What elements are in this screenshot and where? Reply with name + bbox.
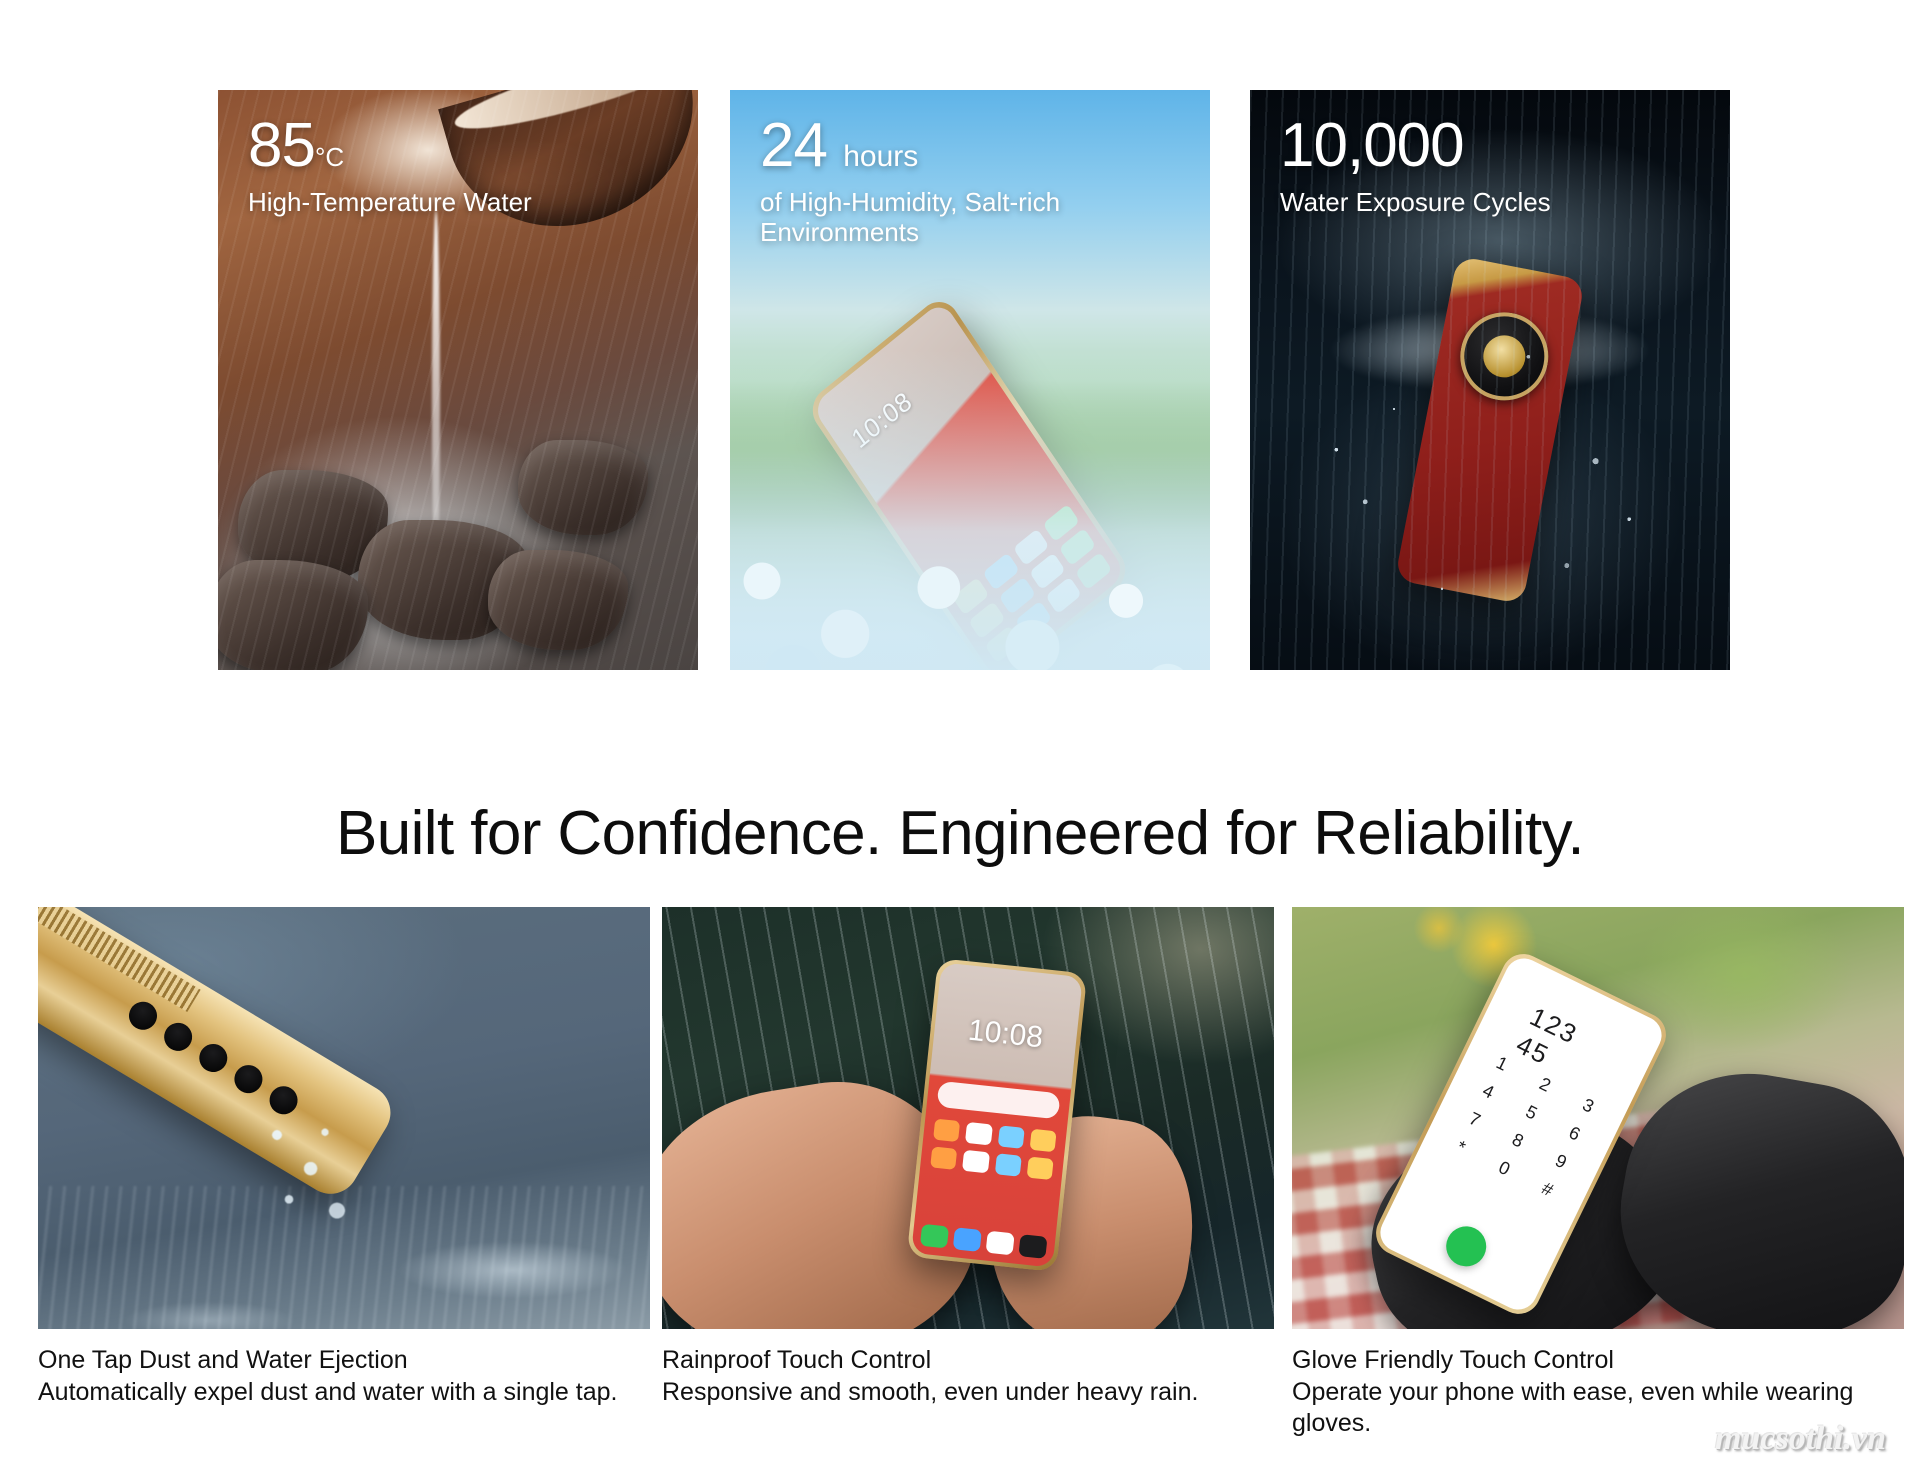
speaker-hole [124,997,162,1035]
feature-image [38,907,650,1329]
stat-card-high-humidity-salt-rich: 10:08 24 hours of High-Humidity, S [730,90,1210,670]
stone-shape [518,440,648,535]
app-icon [1026,1157,1053,1181]
keypad-key: 0 [1481,1150,1528,1187]
messages-app-icon [953,1227,982,1252]
speaker-hole [229,1060,267,1098]
app-icon [1015,601,1052,639]
stat-card-high-temperature-water: 85°C High-Temperature Water [218,90,698,670]
camera-module [1453,305,1556,408]
app-icon [952,577,989,615]
stat-subtitle: High-Temperature Water [248,187,682,217]
app-icon-grid [952,504,1112,664]
stat-subtitle: Water Exposure Cycles [1280,187,1714,217]
product-feature-page: 85°C High-Temperature Water 10:08 [0,0,1920,1480]
phone-clock: 10:08 [846,385,918,455]
feature-description: Automatically expel dust and water with … [38,1377,636,1409]
app-icon [985,625,1022,663]
keypad-key: 9 [1537,1143,1584,1180]
phone-app-icon [920,1224,949,1249]
stone-shape [488,550,628,650]
app-icon [1029,552,1066,590]
feature-image: 123 45 1 2 3 4 5 6 7 8 9 * 0 # [1292,907,1904,1329]
stat-value: 24 hours [760,114,1194,177]
keypad-key: 7 [1451,1101,1498,1138]
phone-clock: 10:08 [966,1014,1044,1056]
keypad-key: 5 [1508,1094,1555,1131]
stat-card-water-exposure-cycles: 10,000 Water Exposure Cycles [1250,90,1730,670]
phone-screen: 10:08 [811,300,1127,670]
app-icon [1029,1129,1056,1153]
feature-title: Glove Friendly Touch Control [1292,1345,1890,1377]
phone-device: 10:08 [907,958,1088,1272]
app-icon-grid [930,1119,1056,1180]
keypad-key: 4 [1465,1073,1512,1110]
feature-description: Responsive and smooth, even under heavy … [662,1377,1260,1409]
app-icon [1075,552,1112,590]
speaker-hole [194,1039,232,1077]
keypad-key: * [1438,1129,1485,1166]
app-icon [1013,528,1050,566]
stat-overlay-text: 10,000 Water Exposure Cycles [1280,114,1714,217]
stone-shape [238,470,388,580]
stat-unit: hours [843,140,918,173]
feature-caption: Rainproof Touch Control Responsive and s… [662,1345,1274,1408]
app-icon [994,1153,1021,1177]
feature-image: 10:08 [662,907,1274,1329]
app-dock [920,1224,1048,1259]
stat-value: 85°C [248,114,682,177]
app-icon [965,1122,992,1146]
phone-screen: 10:08 [911,962,1083,1267]
app-icon [933,1119,960,1143]
app-icon [930,1146,957,1170]
app-icon [997,1125,1024,1149]
app-icon [968,601,1005,639]
app-icon [1059,528,1096,566]
stone-shape [358,520,528,640]
stat-subtitle: of High-Humidity, Salt-rich Environments [760,187,1194,247]
keypad-key: 6 [1551,1115,1598,1152]
app-icon [982,553,1019,591]
camera-app-icon [1018,1234,1047,1259]
browser-app-icon [986,1231,1015,1256]
feature-caption: One Tap Dust and Water Ejection Automati… [38,1345,650,1408]
durability-stats-row: 85°C High-Temperature Water 10:08 [0,0,1920,700]
keypad-key: 8 [1494,1122,1541,1159]
call-button [1439,1220,1492,1273]
water-splash-shape [1260,260,1720,440]
app-icon [1043,504,1080,542]
stat-overlay-text: 85°C High-Temperature Water [248,114,682,217]
site-watermark: mucsothi.vn [1715,1420,1886,1458]
stone-shape [218,560,368,670]
feature-glove-friendly-touch: 123 45 1 2 3 4 5 6 7 8 9 * 0 # [1292,907,1904,1440]
feature-title: One Tap Dust and Water Ejection [38,1345,636,1377]
feature-rainproof-touch: 10:08 [662,907,1274,1408]
water-stream-shape [432,210,440,590]
stat-unit: °C [315,142,344,172]
phone-device [1395,256,1586,605]
speaker-hole [159,1018,197,1056]
feature-title: Rainproof Touch Control [662,1345,1260,1377]
water-droplets [253,1107,373,1247]
app-icon [1045,576,1082,614]
phone-device: 10:08 [805,293,1134,670]
search-bar [937,1081,1061,1120]
stat-overlay-text: 24 hours of High-Humidity, Salt-rich Env… [760,114,1194,248]
feature-one-tap-ejection: One Tap Dust and Water Ejection Automati… [38,907,650,1408]
page-headline: Built for Confidence. Engineered for Rel… [0,798,1920,869]
keypad-key: # [1524,1171,1571,1208]
app-icon [962,1150,989,1174]
app-icon [999,577,1036,615]
stat-value: 10,000 [1280,114,1714,177]
